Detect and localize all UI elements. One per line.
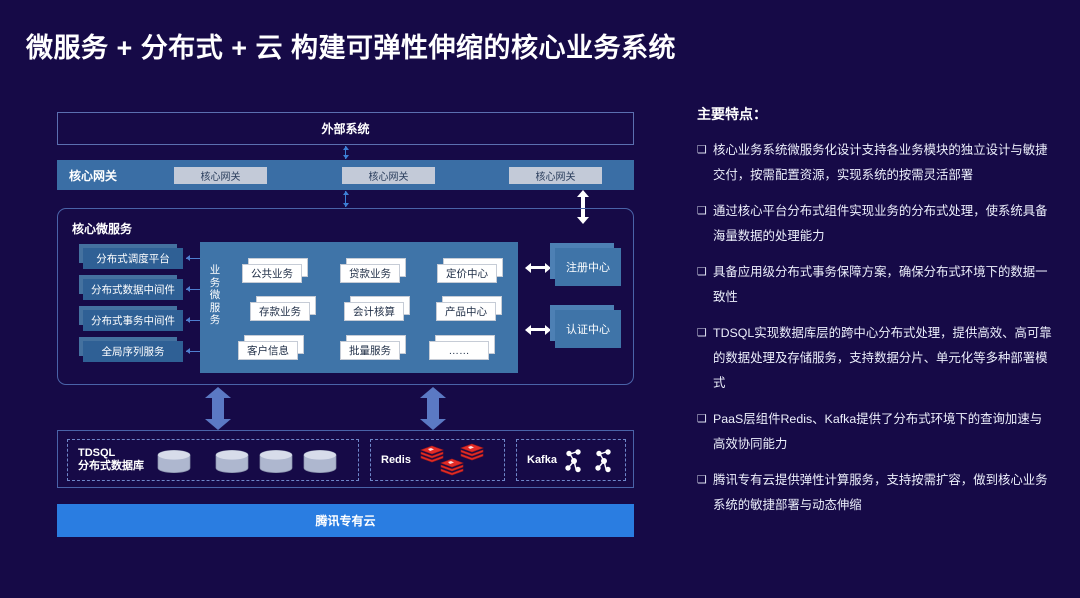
feature-text: TDSQL实现数据库层的跨中心分布式处理，提供高效、高可靠的数据处理及存储服务，… — [713, 321, 1052, 396]
kafka-cell: Kafka — [516, 439, 626, 481]
feature-list-title: 主要特点： — [697, 104, 1052, 124]
service-card[interactable]: 定价中心 — [437, 264, 497, 283]
bullet-icon: ❑ — [697, 468, 713, 518]
bullet-icon: ❑ — [697, 260, 713, 310]
kafka-nodes-icon — [563, 448, 585, 474]
redis-label: Redis — [381, 454, 411, 467]
bullet-icon: ❑ — [697, 321, 713, 396]
feature-item: ❑ 腾讯专有云提供弹性计算服务，支持按需扩容，做到核心业务系统的敏捷部署与动态伸… — [697, 468, 1052, 518]
gateway-chip[interactable]: 核心网关 — [509, 167, 602, 184]
service-card[interactable]: 贷款业务 — [340, 264, 400, 283]
tdsql-cell: TDSQL 分布式数据库 — [67, 439, 359, 481]
arrow-gateway-to-core — [345, 191, 346, 207]
architecture-diagram: 外部系统 核心网关 核心网关 核心网关 核心网关 核心微服务 分布式调度平台 分… — [57, 112, 634, 537]
core-microservice-panel: 核心微服务 分布式调度平台 分布式数据中间件 分布式事务中间件 全局序列服务 业… — [57, 208, 634, 385]
left-component-chip[interactable]: 分布式数据中间件 — [83, 279, 183, 300]
external-system-box: 外部系统 — [57, 112, 634, 145]
service-card[interactable]: 客户信息 — [238, 341, 298, 360]
service-card[interactable]: 批量服务 — [340, 341, 400, 360]
business-microservice-label: 业务微服务 — [208, 264, 222, 327]
arrow-biz-to-registry — [531, 266, 545, 269]
feature-item: ❑ TDSQL实现数据库层的跨中心分布式处理，提供高效、高可靠的数据处理及存储服… — [697, 321, 1052, 396]
slide-root: 微服务 + 分布式 + 云 构建可弹性伸缩的核心业务系统 外部系统 核心网关 核… — [0, 0, 1080, 598]
feature-text: 腾讯专有云提供弹性计算服务，支持按需扩容，做到核心业务系统的敏捷部署与动态伸缩 — [713, 468, 1052, 518]
registry-center-box[interactable]: 注册中心 — [555, 248, 621, 286]
service-card[interactable]: 存款业务 — [250, 302, 310, 321]
left-component-chip[interactable]: 分布式调度平台 — [83, 248, 183, 269]
bullet-icon: ❑ — [697, 407, 713, 457]
tencent-private-cloud-bar: 腾讯专有云 — [57, 504, 634, 537]
service-card[interactable]: …… — [429, 341, 489, 360]
external-system-label: 外部系统 — [321, 120, 369, 137]
service-card[interactable]: 产品中心 — [436, 302, 496, 321]
arrow-core-to-data-left — [212, 397, 224, 420]
redis-cell: Redis — [370, 439, 505, 481]
gateway-chip[interactable]: 核心网关 — [342, 167, 435, 184]
feature-item: ❑ 具备应用级分布式事务保障方案，确保分布式环境下的数据一致性 — [697, 260, 1052, 310]
gateway-chip[interactable]: 核心网关 — [174, 167, 267, 184]
feature-text: 具备应用级分布式事务保障方案，确保分布式环境下的数据一致性 — [713, 260, 1052, 310]
feature-text: PaaS层组件Redis、Kafka提供了分布式环境下的查询加速与高效协同能力 — [713, 407, 1052, 457]
feature-list: 主要特点： ❑ 核心业务系统微服务化设计支持各业务模块的独立设计与敏捷交付，按需… — [697, 104, 1052, 529]
kafka-nodes-icon — [593, 448, 615, 474]
database-cylinder-icon — [303, 450, 337, 473]
feature-text: 核心业务系统微服务化设计支持各业务模块的独立设计与敏捷交付，按需配置资源，实现系… — [713, 138, 1052, 188]
redis-cubes-icon — [439, 457, 465, 479]
database-cylinder-icon — [157, 450, 191, 473]
bullet-icon: ❑ — [697, 199, 713, 249]
page-title: 微服务 + 分布式 + 云 构建可弹性伸缩的核心业务系统 — [26, 26, 676, 65]
left-component-chip[interactable]: 全局序列服务 — [83, 341, 183, 362]
arrow-external-to-gateway — [345, 146, 346, 159]
database-cylinder-icon — [259, 450, 293, 473]
tencent-private-cloud-label: 腾讯专有云 — [315, 512, 375, 529]
feature-item: ❑ 核心业务系统微服务化设计支持各业务模块的独立设计与敏捷交付，按需配置资源，实… — [697, 138, 1052, 188]
feature-text: 通过核心平台分布式组件实现业务的分布式处理，使系统具备海量数据的处理能力 — [713, 199, 1052, 249]
kafka-label: Kafka — [527, 454, 557, 467]
service-card[interactable]: 公共业务 — [242, 264, 302, 283]
left-component-chip[interactable]: 分布式事务中间件 — [83, 310, 183, 331]
database-cylinder-icon — [215, 450, 249, 473]
business-microservice-box: 业务微服务 公共业务 贷款业务 定价中心 存款业务 会计核算 产品中心 客户信息… — [200, 242, 518, 373]
arrow-biz-to-auth — [531, 328, 545, 331]
bullet-icon: ❑ — [697, 138, 713, 188]
data-layer-container: TDSQL 分布式数据库 — [57, 430, 634, 488]
arrow-core-to-data-right — [427, 397, 439, 420]
auth-center-box[interactable]: 认证中心 — [555, 310, 621, 348]
feature-item: ❑ 通过核心平台分布式组件实现业务的分布式处理，使系统具备海量数据的处理能力 — [697, 199, 1052, 249]
core-microservice-title: 核心微服务 — [72, 220, 132, 237]
core-gateway-title: 核心网关 — [69, 167, 117, 184]
core-gateway-bar: 核心网关 核心网关 核心网关 核心网关 — [57, 160, 634, 190]
feature-item: ❑ PaaS层组件Redis、Kafka提供了分布式环境下的查询加速与高效协同能… — [697, 407, 1052, 457]
tdsql-label: TDSQL 分布式数据库 — [78, 447, 144, 473]
service-card[interactable]: 会计核算 — [344, 302, 404, 321]
